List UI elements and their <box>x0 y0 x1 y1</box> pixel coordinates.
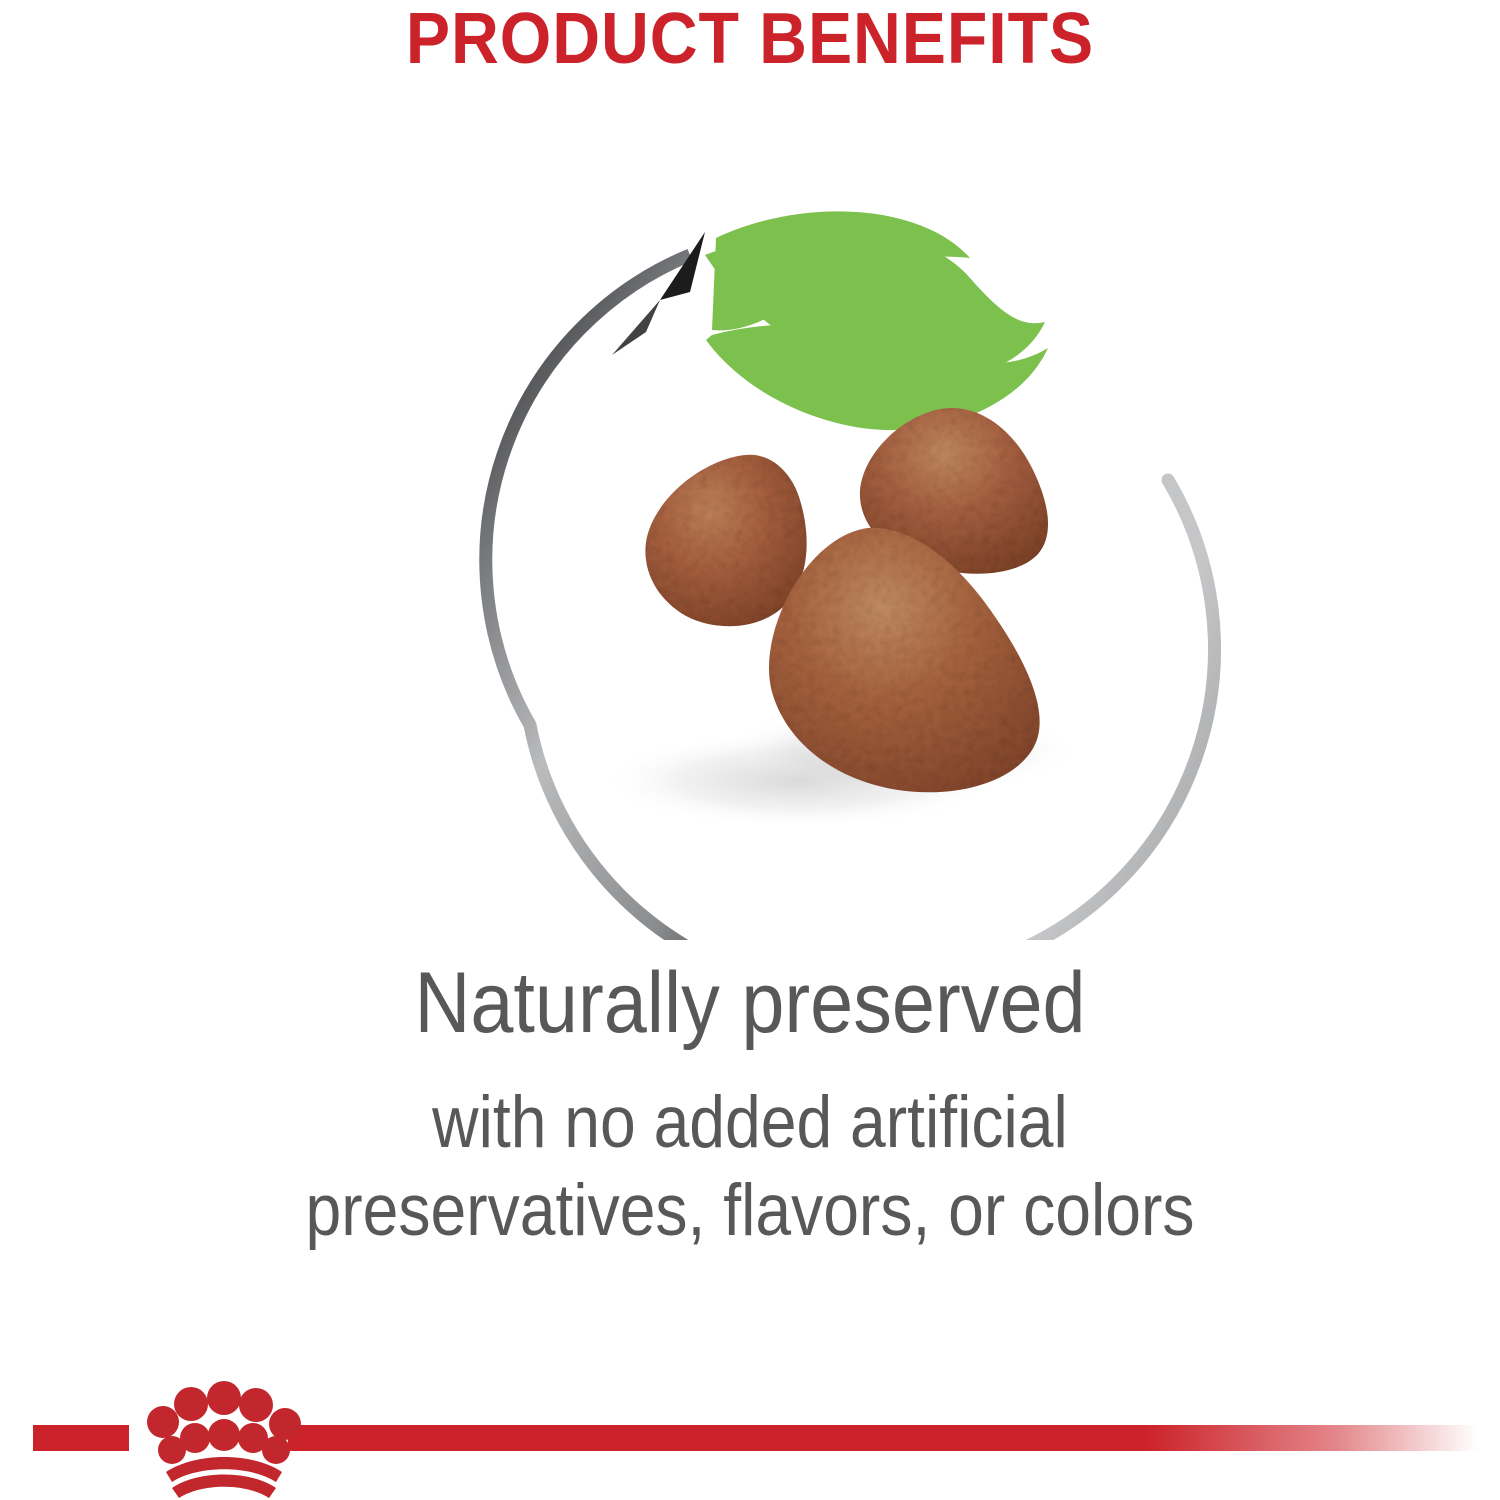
footer-brand-bar <box>0 1380 1500 1500</box>
benefit-subline-2: preservatives, flavors, or colors <box>90 1170 1410 1252</box>
footer-bar-left <box>33 1425 129 1451</box>
footer-bar-right <box>288 1425 1478 1451</box>
benefit-headline: Naturally preserved <box>75 960 1425 1046</box>
royal-canin-crown-logo <box>147 1381 301 1498</box>
benefit-text-block: Naturally preserved with no added artifi… <box>0 960 1500 1252</box>
leaf-icon <box>705 211 1048 430</box>
benefit-subline-1: with no added artificial <box>90 1082 1410 1164</box>
kibble-piece-left <box>645 455 806 626</box>
page-title: PRODUCT BENEFITS <box>60 2 1440 78</box>
benefit-illustration <box>0 180 1500 940</box>
